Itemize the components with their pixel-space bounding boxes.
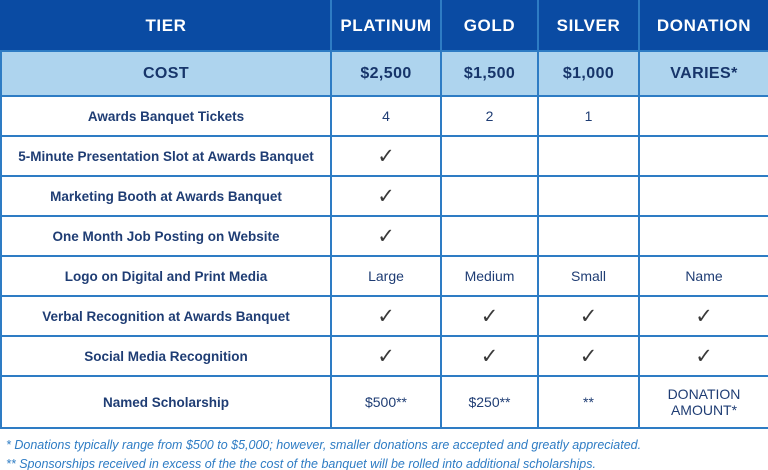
cell-silver [538,176,639,216]
column-header-gold: GOLD [441,1,538,51]
cell-gold [441,136,538,176]
checkmark-icon: ✓ [331,176,441,216]
column-header-tier: TIER [1,1,331,51]
feature-label: Marketing Booth at Awards Banquet [1,176,331,216]
cell-silver: 1 [538,96,639,136]
table-row: 5-Minute Presentation Slot at Awards Ban… [1,136,768,176]
table-row: Verbal Recognition at Awards Banquet ✓ ✓… [1,296,768,336]
feature-label: Logo on Digital and Print Media [1,256,331,296]
checkmark-icon: ✓ [331,336,441,376]
table-row: One Month Job Posting on Website ✓ [1,216,768,256]
table-row-cost: COST $2,500 $1,500 $1,000 VARIES* [1,51,768,96]
cell-platinum: 4 [331,96,441,136]
cell-donation: DONATION AMOUNT* [639,376,768,428]
checkmark-icon: ✓ [331,216,441,256]
checkmark-icon: ✓ [331,136,441,176]
checkmark-icon: ✓ [441,336,538,376]
cost-donation-value: VARIES* [639,51,768,96]
cell-donation [639,176,768,216]
feature-label: Verbal Recognition at Awards Banquet [1,296,331,336]
column-header-donation: DONATION [639,1,768,51]
footnote-double-asterisk: ** Sponsorships received in excess of th… [6,455,762,470]
feature-label: One Month Job Posting on Website [1,216,331,256]
cell-gold [441,216,538,256]
checkmark-icon: ✓ [639,336,768,376]
feature-label: 5-Minute Presentation Slot at Awards Ban… [1,136,331,176]
cell-gold: Medium [441,256,538,296]
cell-silver: ** [538,376,639,428]
cell-platinum: $500** [331,376,441,428]
cell-donation-line1: DONATION [668,386,741,402]
cost-silver-value: $1,000 [538,51,639,96]
cell-donation [639,96,768,136]
sponsorship-tier-sheet: TIER PLATINUM GOLD SILVER DONATION COST … [0,0,768,470]
cell-gold [441,176,538,216]
cost-platinum-value: $2,500 [331,51,441,96]
cell-silver [538,216,639,256]
sponsorship-tier-table: TIER PLATINUM GOLD SILVER DONATION COST … [0,0,768,429]
cost-gold-value: $1,500 [441,51,538,96]
checkmark-icon: ✓ [441,296,538,336]
column-header-silver: SILVER [538,1,639,51]
table-row: Logo on Digital and Print Media Large Me… [1,256,768,296]
cell-silver: Small [538,256,639,296]
table-row: Marketing Booth at Awards Banquet ✓ [1,176,768,216]
feature-label: Named Scholarship [1,376,331,428]
feature-label: Social Media Recognition [1,336,331,376]
checkmark-icon: ✓ [639,296,768,336]
table-row: Awards Banquet Tickets 4 2 1 [1,96,768,136]
checkmark-icon: ✓ [538,336,639,376]
table-row: Social Media Recognition ✓ ✓ ✓ ✓ [1,336,768,376]
cell-donation-line2: AMOUNT* [671,402,737,418]
checkmark-icon: ✓ [538,296,639,336]
cell-donation [639,216,768,256]
cell-silver [538,136,639,176]
cell-donation [639,136,768,176]
footnote-single-asterisk: * Donations typically range from $500 to… [6,436,762,455]
table-row: Named Scholarship $500** $250** ** DONAT… [1,376,768,428]
table-header-row: TIER PLATINUM GOLD SILVER DONATION [1,1,768,51]
footnotes: * Donations typically range from $500 to… [0,429,768,470]
cell-donation: Name [639,256,768,296]
cost-row-label: COST [1,51,331,96]
cell-gold: $250** [441,376,538,428]
column-header-platinum: PLATINUM [331,1,441,51]
cell-gold: 2 [441,96,538,136]
cell-platinum: Large [331,256,441,296]
checkmark-icon: ✓ [331,296,441,336]
feature-label: Awards Banquet Tickets [1,96,331,136]
